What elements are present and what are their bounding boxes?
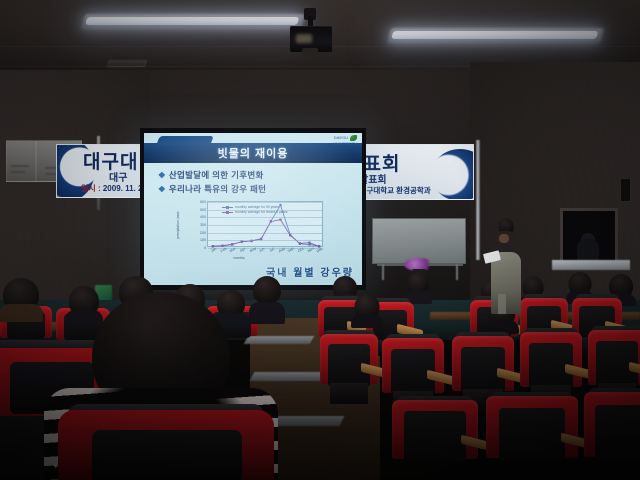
- ceiling-light-right: [390, 28, 599, 44]
- presenter-legs: [498, 294, 506, 314]
- auditorium-seat: [320, 334, 378, 404]
- chart-y-tick: 600: [200, 200, 206, 204]
- projector-icon: [288, 8, 334, 58]
- chart-y-tick: 0: [204, 246, 206, 250]
- chart-y-tick: 100: [200, 238, 206, 242]
- diamond-bullet-icon: ❖: [158, 184, 166, 194]
- chart-gridline: [208, 217, 322, 218]
- legend-swatch-icon: [222, 212, 233, 214]
- foreground-seat: [58, 404, 274, 480]
- projection-screen: 빗물의 재이용 DAEGUUNIVERSITY ❖산업발달에 의한 기후변화 ❖…: [140, 128, 366, 290]
- chart-y-tick: 200: [200, 231, 206, 235]
- chart-y-tick: 300: [200, 223, 206, 227]
- presentation-slide: 빗물의 재이용 DAEGUUNIVERSITY ❖산업발달에 의한 기후변화 ❖…: [144, 133, 362, 285]
- university-logo: DAEGUUNIVERSITY: [333, 135, 357, 146]
- audience-member: [0, 278, 42, 322]
- wall-poster: [6, 140, 36, 182]
- chart-y-axis-label: precipitation (mm): [176, 211, 180, 238]
- chart-legend-label: monthly average for recent 5 years: [235, 210, 287, 215]
- chart-gridline: [208, 240, 322, 241]
- standing-presenter: [486, 218, 526, 314]
- banner-left-subtitle: 대구: [109, 169, 127, 184]
- auditorium-seat: [584, 392, 640, 480]
- whiteboard-leg: [382, 264, 384, 280]
- chart-gridline: [208, 210, 322, 211]
- chart-data-point: [231, 243, 233, 245]
- whiteboard-leg: [456, 264, 458, 280]
- wall-speaker: [620, 178, 631, 202]
- chart-data-point: [308, 242, 310, 244]
- chart-data-point: [279, 219, 281, 221]
- leaf-icon: [350, 135, 357, 141]
- slide-bullet-1: ❖산업발달에 의한 기후변화: [158, 169, 264, 181]
- precipitation-line-chart: precipitation (mm) monthly average for 3…: [181, 199, 331, 261]
- chart-data-point: [289, 234, 291, 236]
- presenter-coat: [491, 252, 521, 314]
- ceiling-light-left: [84, 14, 300, 30]
- banner-pole: [476, 140, 480, 260]
- chart-x-axis-label: months: [233, 256, 244, 260]
- control-booth-window: [560, 208, 618, 266]
- lecture-hall-photo: 대구대 대구 일시 : 2009. 11. 20(금) 발표회 발표회 : 대구…: [0, 0, 640, 480]
- chart-y-tick: 500: [200, 208, 206, 212]
- presenter-face: [499, 234, 509, 243]
- slide-title: 빗물의 재이용: [144, 145, 362, 161]
- audience-member: [352, 294, 382, 328]
- chart-gridline: [208, 202, 322, 203]
- chart-legend-item: monthly average for recent 5 years: [222, 210, 287, 215]
- banner-right-org: : 대구대학교 환경공학과: [355, 185, 431, 196]
- chart-y-tick: 400: [200, 215, 206, 219]
- chart-gridline: [208, 225, 322, 226]
- diamond-bullet-icon: ❖: [158, 170, 166, 180]
- auditorium-seat: [392, 400, 478, 480]
- booth-desk: [552, 260, 630, 270]
- slide-bullet-1-text: 산업발달에 의한 기후변화: [169, 170, 264, 180]
- slide-bullet-2-text: 우리나라 특유의 강우 패턴: [169, 184, 266, 194]
- chart-gridline: [208, 233, 322, 234]
- chart-plot-area: monthly average for 30 yearsmonthly aver…: [207, 201, 323, 247]
- banner-left-date-label: 일시 :: [81, 184, 103, 193]
- legend-swatch-icon: [222, 207, 233, 209]
- auditorium-seat: [486, 396, 578, 480]
- chart-data-point: [308, 243, 310, 245]
- chart-data-point: [299, 242, 301, 244]
- chart-data-point: [270, 220, 272, 222]
- slide-bullet-2: ❖우리나라 특유의 강우 패턴: [158, 183, 266, 195]
